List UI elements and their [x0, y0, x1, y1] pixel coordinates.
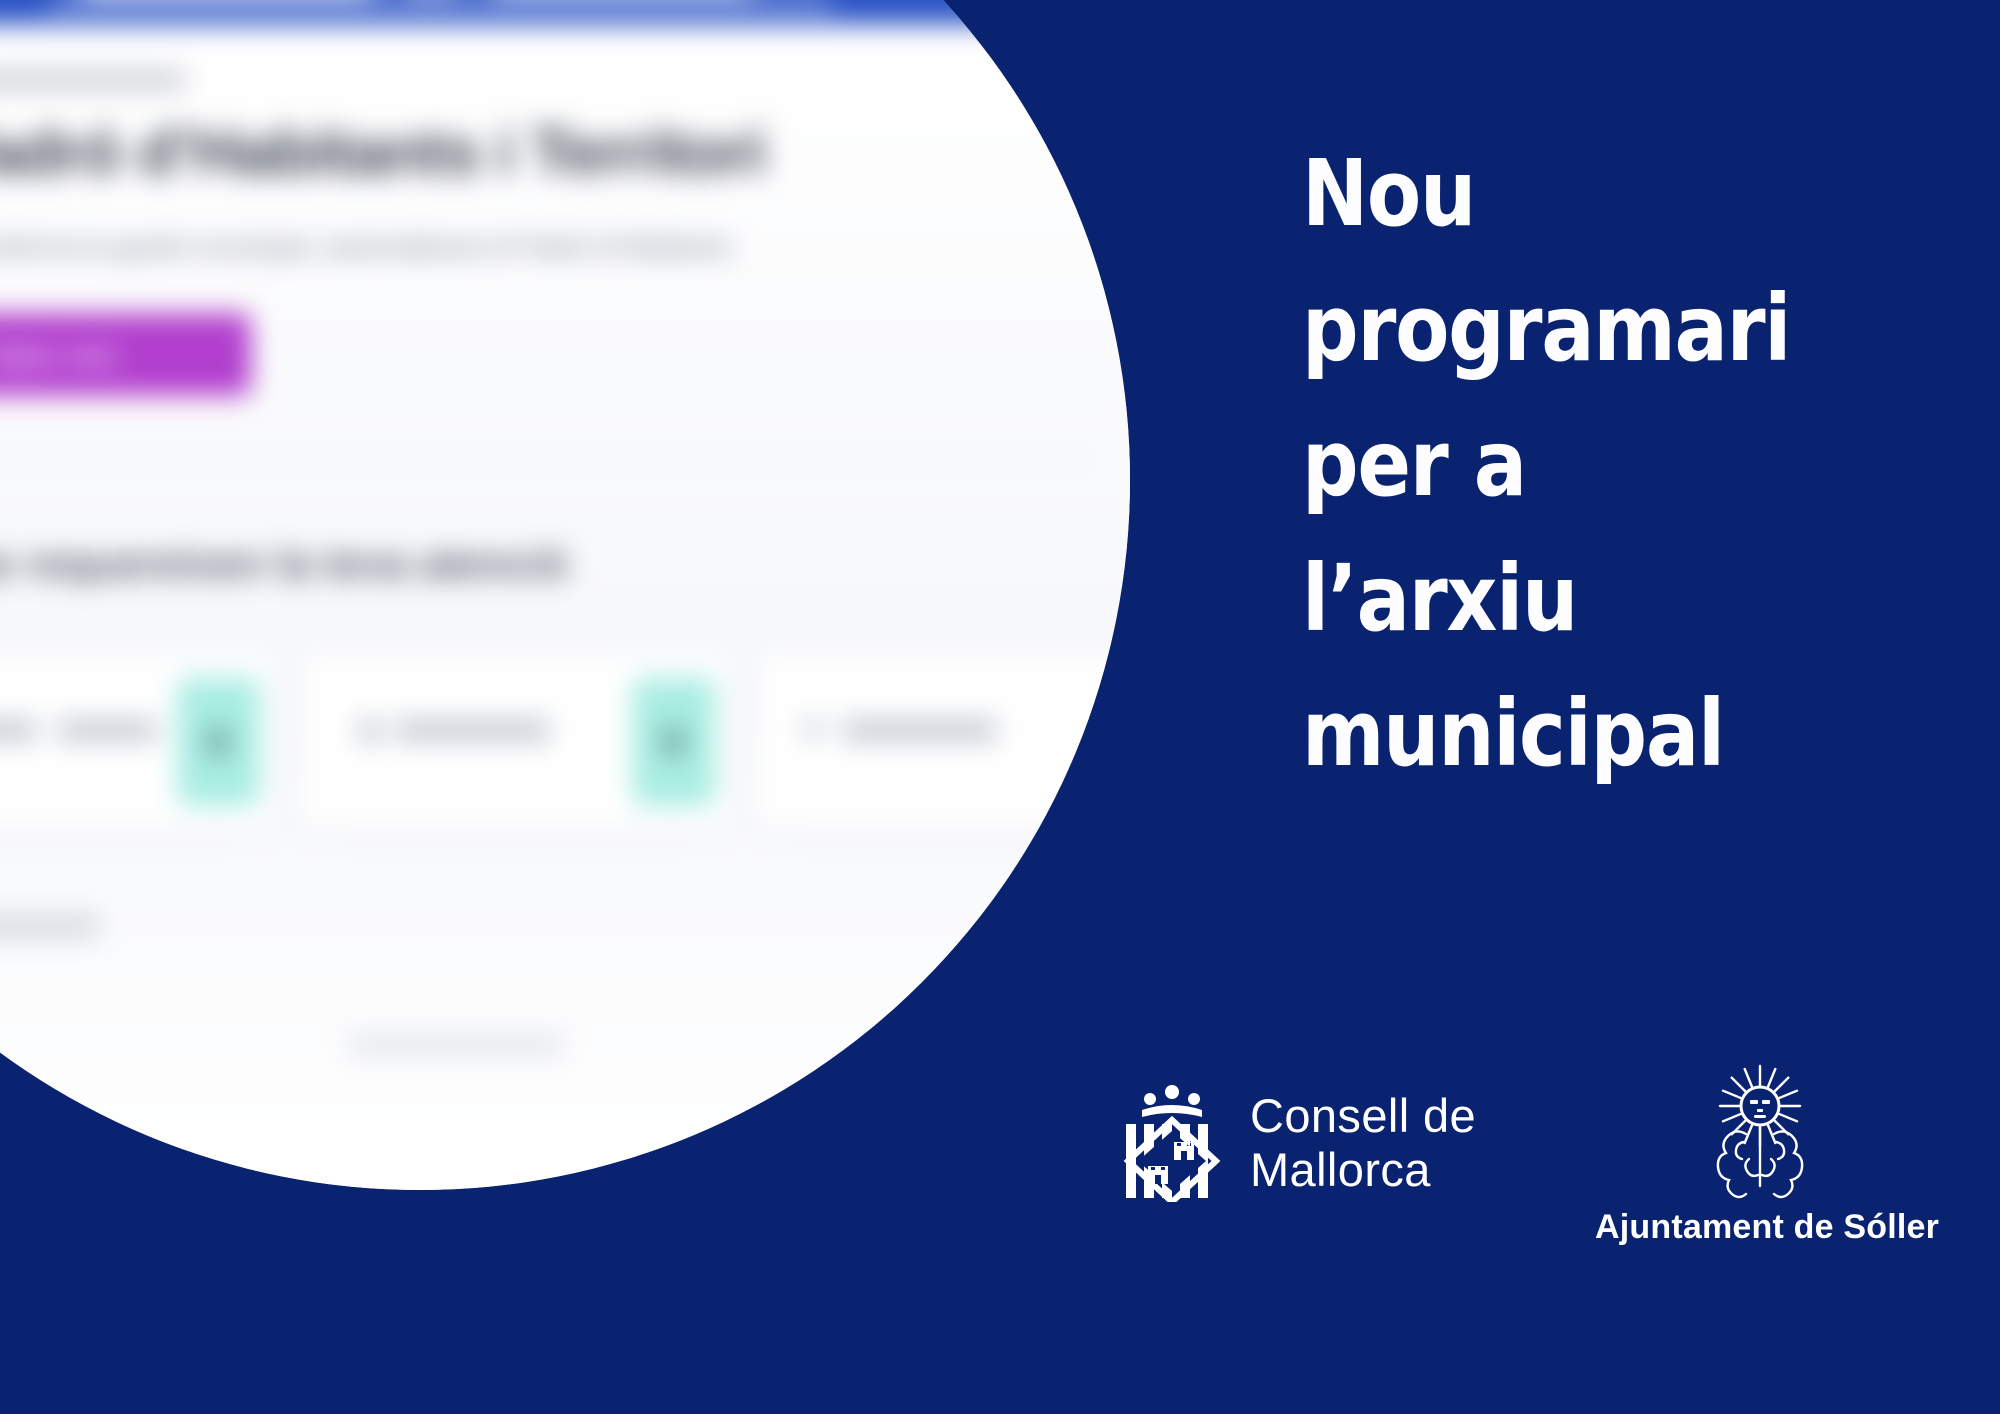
logo-ajuntament-de-soller: Ajuntament de Sóller	[1595, 1060, 1925, 1247]
page-title: Padró d’Habitants i Territori	[0, 115, 766, 189]
sun-face-lions-icon	[1696, 1060, 1824, 1202]
logo-row: Consell de Mallorca	[1120, 1060, 1930, 1290]
document-icon	[801, 717, 824, 740]
headline-line-4: l’arxiu	[1302, 531, 1870, 666]
headline-line-1: Nou	[1302, 126, 1870, 261]
logo-consell-line-1: Consell de	[1250, 1089, 1476, 1143]
status-badge	[632, 678, 714, 806]
logo-consell-de-mallorca: Consell de Mallorca	[1120, 1084, 1476, 1202]
headline-line-5: municipal	[1302, 666, 1870, 801]
section-heading: es que requereixen la teva atenció	[0, 540, 568, 588]
list-item[interactable]	[0, 651, 278, 832]
list-item-label	[395, 719, 550, 742]
headline-line-2: programari	[1302, 261, 1870, 396]
promo-banner: Padró d’Habitants i Territori Transforma…	[0, 0, 2000, 1414]
footer-text-secondary	[348, 1034, 564, 1057]
list-item-meta	[57, 719, 156, 742]
primary-cta-button[interactable]: Saber més	[0, 313, 251, 395]
browser-toolbar	[49, 0, 832, 12]
primary-cta-label: Saber més	[0, 342, 118, 372]
logo-consell-wordmark: Consell de Mallorca	[1250, 1089, 1476, 1197]
list-item[interactable]	[754, 651, 1130, 832]
logo-soller-wordmark: Ajuntament de Sóller	[1595, 1208, 1925, 1247]
headline-line-3: per a	[1302, 396, 1870, 531]
check-icon	[358, 719, 381, 744]
list-item-label	[0, 719, 37, 742]
logo-consell-line-2: Mallorca	[1250, 1143, 1476, 1197]
card-row	[0, 651, 1130, 828]
app-content: Padró d’Habitants i Territori Transforma…	[0, 25, 1130, 1190]
status-badge	[177, 678, 259, 806]
blurred-app-screenshot: Padró d’Habitants i Territori Transforma…	[0, 0, 1130, 1190]
browser-chrome-bar	[0, 0, 1130, 25]
list-item[interactable]	[298, 651, 733, 832]
footer-text	[0, 913, 101, 940]
section-divider	[0, 457, 1090, 459]
page-subtitle: Transforma la gestió municipal, automati…	[0, 231, 732, 263]
breadcrumb	[0, 70, 185, 90]
list-item-label	[842, 719, 997, 742]
crowned-shield-icon	[1120, 1084, 1224, 1202]
screenshot-circle: Padró d’Habitants i Territori Transforma…	[0, 0, 1130, 1190]
headline: Nou programari per a l’arxiu municipal	[1302, 126, 1962, 801]
